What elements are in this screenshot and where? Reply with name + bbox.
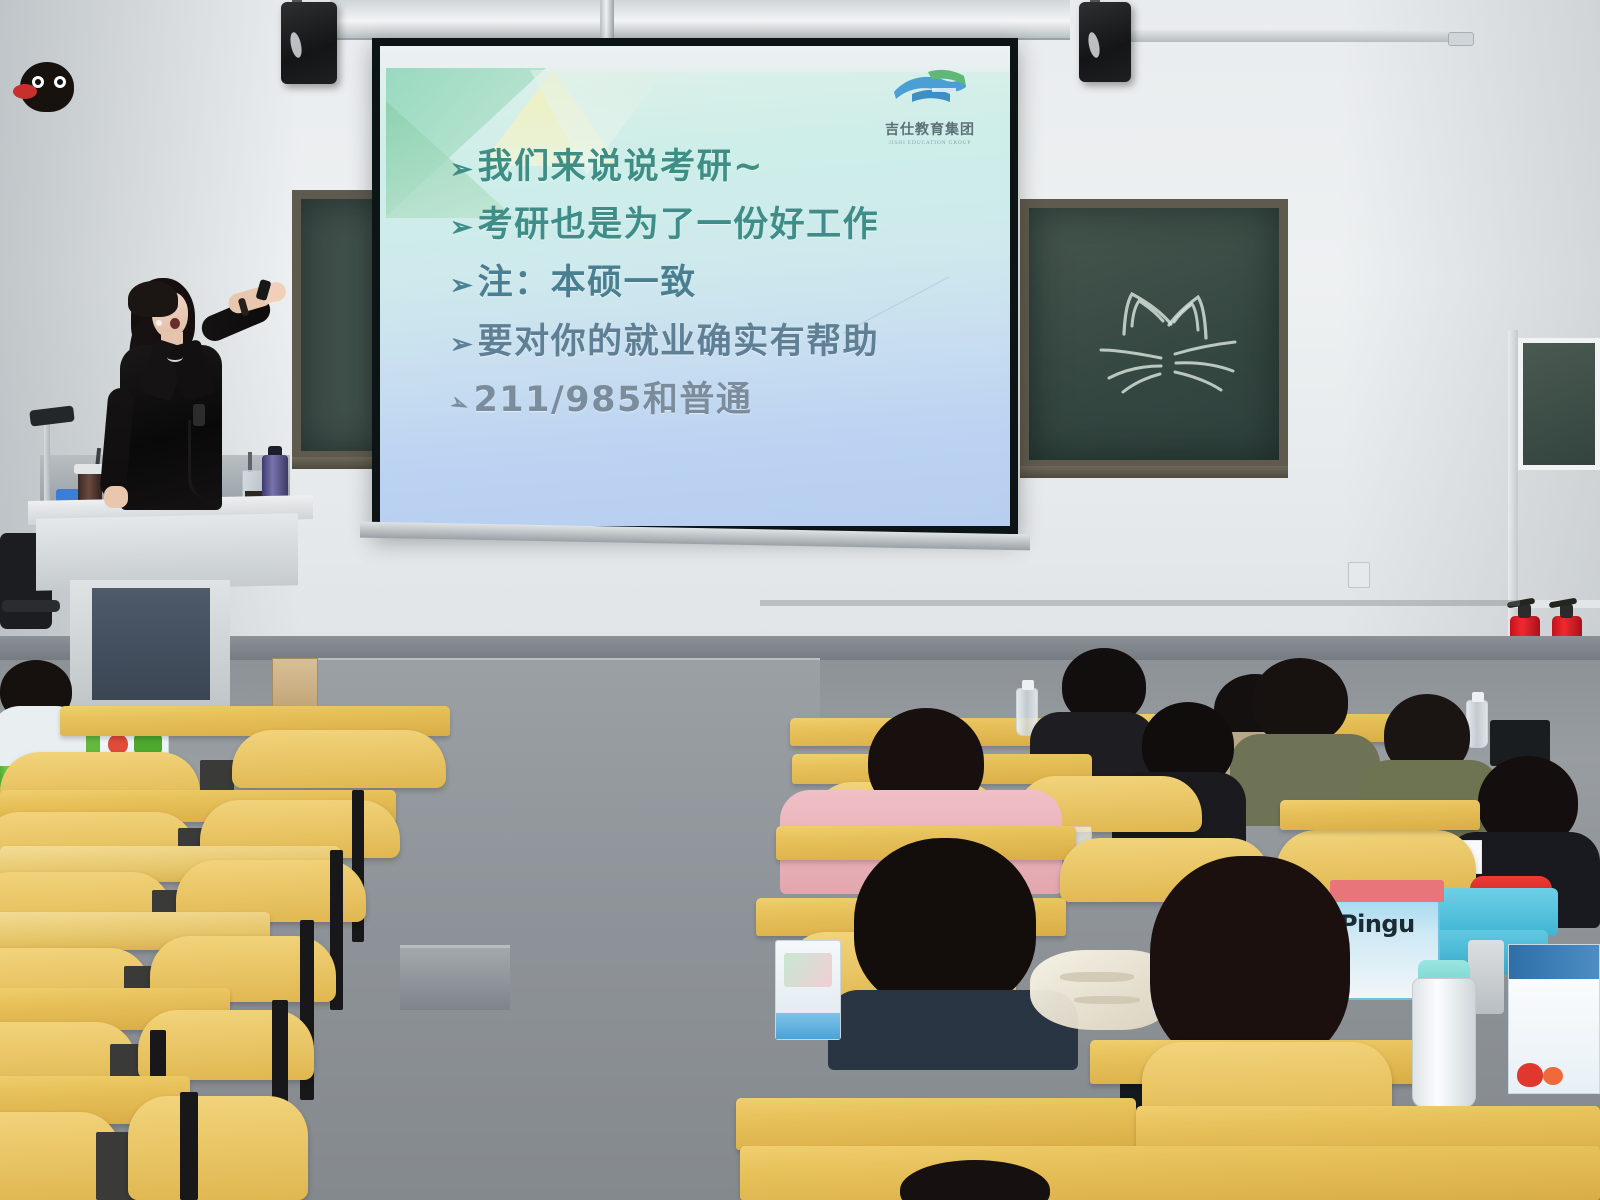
- slide-bullet-text: 我们来说说考研~: [478, 148, 764, 187]
- desk-surface: [736, 1098, 1136, 1150]
- tissue-box-art: [784, 953, 832, 987]
- desk-surface: [740, 1146, 1600, 1200]
- chalk-tray-right: [1020, 466, 1288, 478]
- chalk-cat-drawing: [1029, 208, 1279, 460]
- right-blackboard: [1020, 199, 1288, 469]
- classroom-scene: 吉仕教育集团 JISHI EDUCATION GROUP ➢ 我们来说说考研~ …: [0, 0, 1600, 1200]
- presenter-chair-arm: [2, 600, 60, 612]
- brand-logo: 吉仕教育集团 JISHI EDUCATION GROUP: [870, 66, 990, 146]
- podium-front-panel: [92, 588, 210, 700]
- student-head: [1252, 658, 1348, 744]
- bullet-arrow-icon: ➢: [447, 390, 472, 417]
- desk-leg: [180, 1092, 198, 1200]
- appliance-box-header: [1509, 945, 1599, 979]
- bullet-arrow-icon: ➢: [450, 331, 473, 358]
- wall-seam: [760, 600, 1520, 606]
- presentation-slide: 吉仕教育集团 JISHI EDUCATION GROUP ➢ 我们来说说考研~ …: [380, 46, 1010, 526]
- plastic-bag-fold: [1060, 972, 1134, 982]
- wall-outlet: [1348, 562, 1370, 588]
- presenter-mouth: [170, 318, 180, 329]
- ceiling-rail: [330, 0, 1070, 40]
- brand-name-en: JISHI EDUCATION GROUP: [870, 140, 990, 146]
- bullet-arrow-icon: ➢: [450, 156, 473, 183]
- student-head: [854, 838, 1036, 1010]
- slide-bullet-2: ➢ 考研也是为了一份好工作: [450, 206, 990, 245]
- presenter-left-hand: [104, 486, 128, 508]
- wave-logo-icon: [888, 66, 972, 112]
- slide-bullet-text: 考研也是为了一份好工作: [478, 206, 880, 245]
- microphone-stand: [44, 418, 50, 502]
- slide-bullet-text: 要对你的就业确实有帮助: [478, 323, 880, 362]
- plastic-bag-fold: [1074, 996, 1140, 1004]
- box-art-red: [108, 734, 128, 754]
- mint-thermos: [1412, 978, 1476, 1108]
- presenter-necklace: [167, 352, 183, 362]
- desk-surface: [1280, 800, 1480, 830]
- plastic-bag: [1030, 950, 1170, 1030]
- brand-name-cn: 吉仕教育集团: [870, 119, 990, 139]
- bullet-arrow-icon: ➢: [450, 272, 473, 299]
- student-head: [1150, 856, 1350, 1068]
- slide-bullet-text: 211/985和普通: [473, 381, 752, 420]
- box-art-orange: [1543, 1067, 1563, 1085]
- pingu-brand-label: Pingu: [1340, 910, 1415, 938]
- left-speaker: [281, 2, 337, 84]
- tissue-box-stripe: [776, 1013, 840, 1039]
- chair: [232, 730, 446, 788]
- pingu-box-lid: [1330, 880, 1444, 902]
- clear-cup-straw: [248, 452, 252, 472]
- pingu-plush-icon: [20, 62, 74, 112]
- microphone-cord: [188, 420, 210, 500]
- stage-step: [400, 945, 510, 1010]
- right-speaker: [1079, 2, 1131, 82]
- tissue-box: [775, 940, 841, 1040]
- pingu-eye-right: [54, 76, 66, 88]
- rail-endcap: [1448, 32, 1474, 46]
- slide-bullet-list: ➢ 我们来说说考研~ ➢ 考研也是为了一份好工作 ➢ 注：本硕一致 ➢ 要对你的…: [450, 148, 990, 439]
- pingu-eye-left: [32, 76, 44, 88]
- presenter-earring: [156, 320, 162, 326]
- mobile-blackboard: [1518, 338, 1600, 470]
- presenter-hair-top: [128, 281, 178, 317]
- slide-bullet-text: 注：本硕一致: [478, 264, 697, 303]
- appliance-box: [1508, 944, 1600, 1094]
- ceiling-rail-right: [1110, 30, 1470, 42]
- blue-towel: [1440, 888, 1558, 936]
- projection-screen: 吉仕教育集团 JISHI EDUCATION GROUP ➢ 我们来说说考研~ …: [372, 38, 1018, 534]
- box-art-strawberry: [1517, 1063, 1543, 1087]
- bullet-arrow-icon: ➢: [450, 214, 473, 241]
- slide-bullet-5: ➢ 211/985和普通: [450, 381, 990, 420]
- chair: [128, 1096, 308, 1200]
- slide-bullet-1: ➢ 我们来说说考研~: [450, 148, 990, 187]
